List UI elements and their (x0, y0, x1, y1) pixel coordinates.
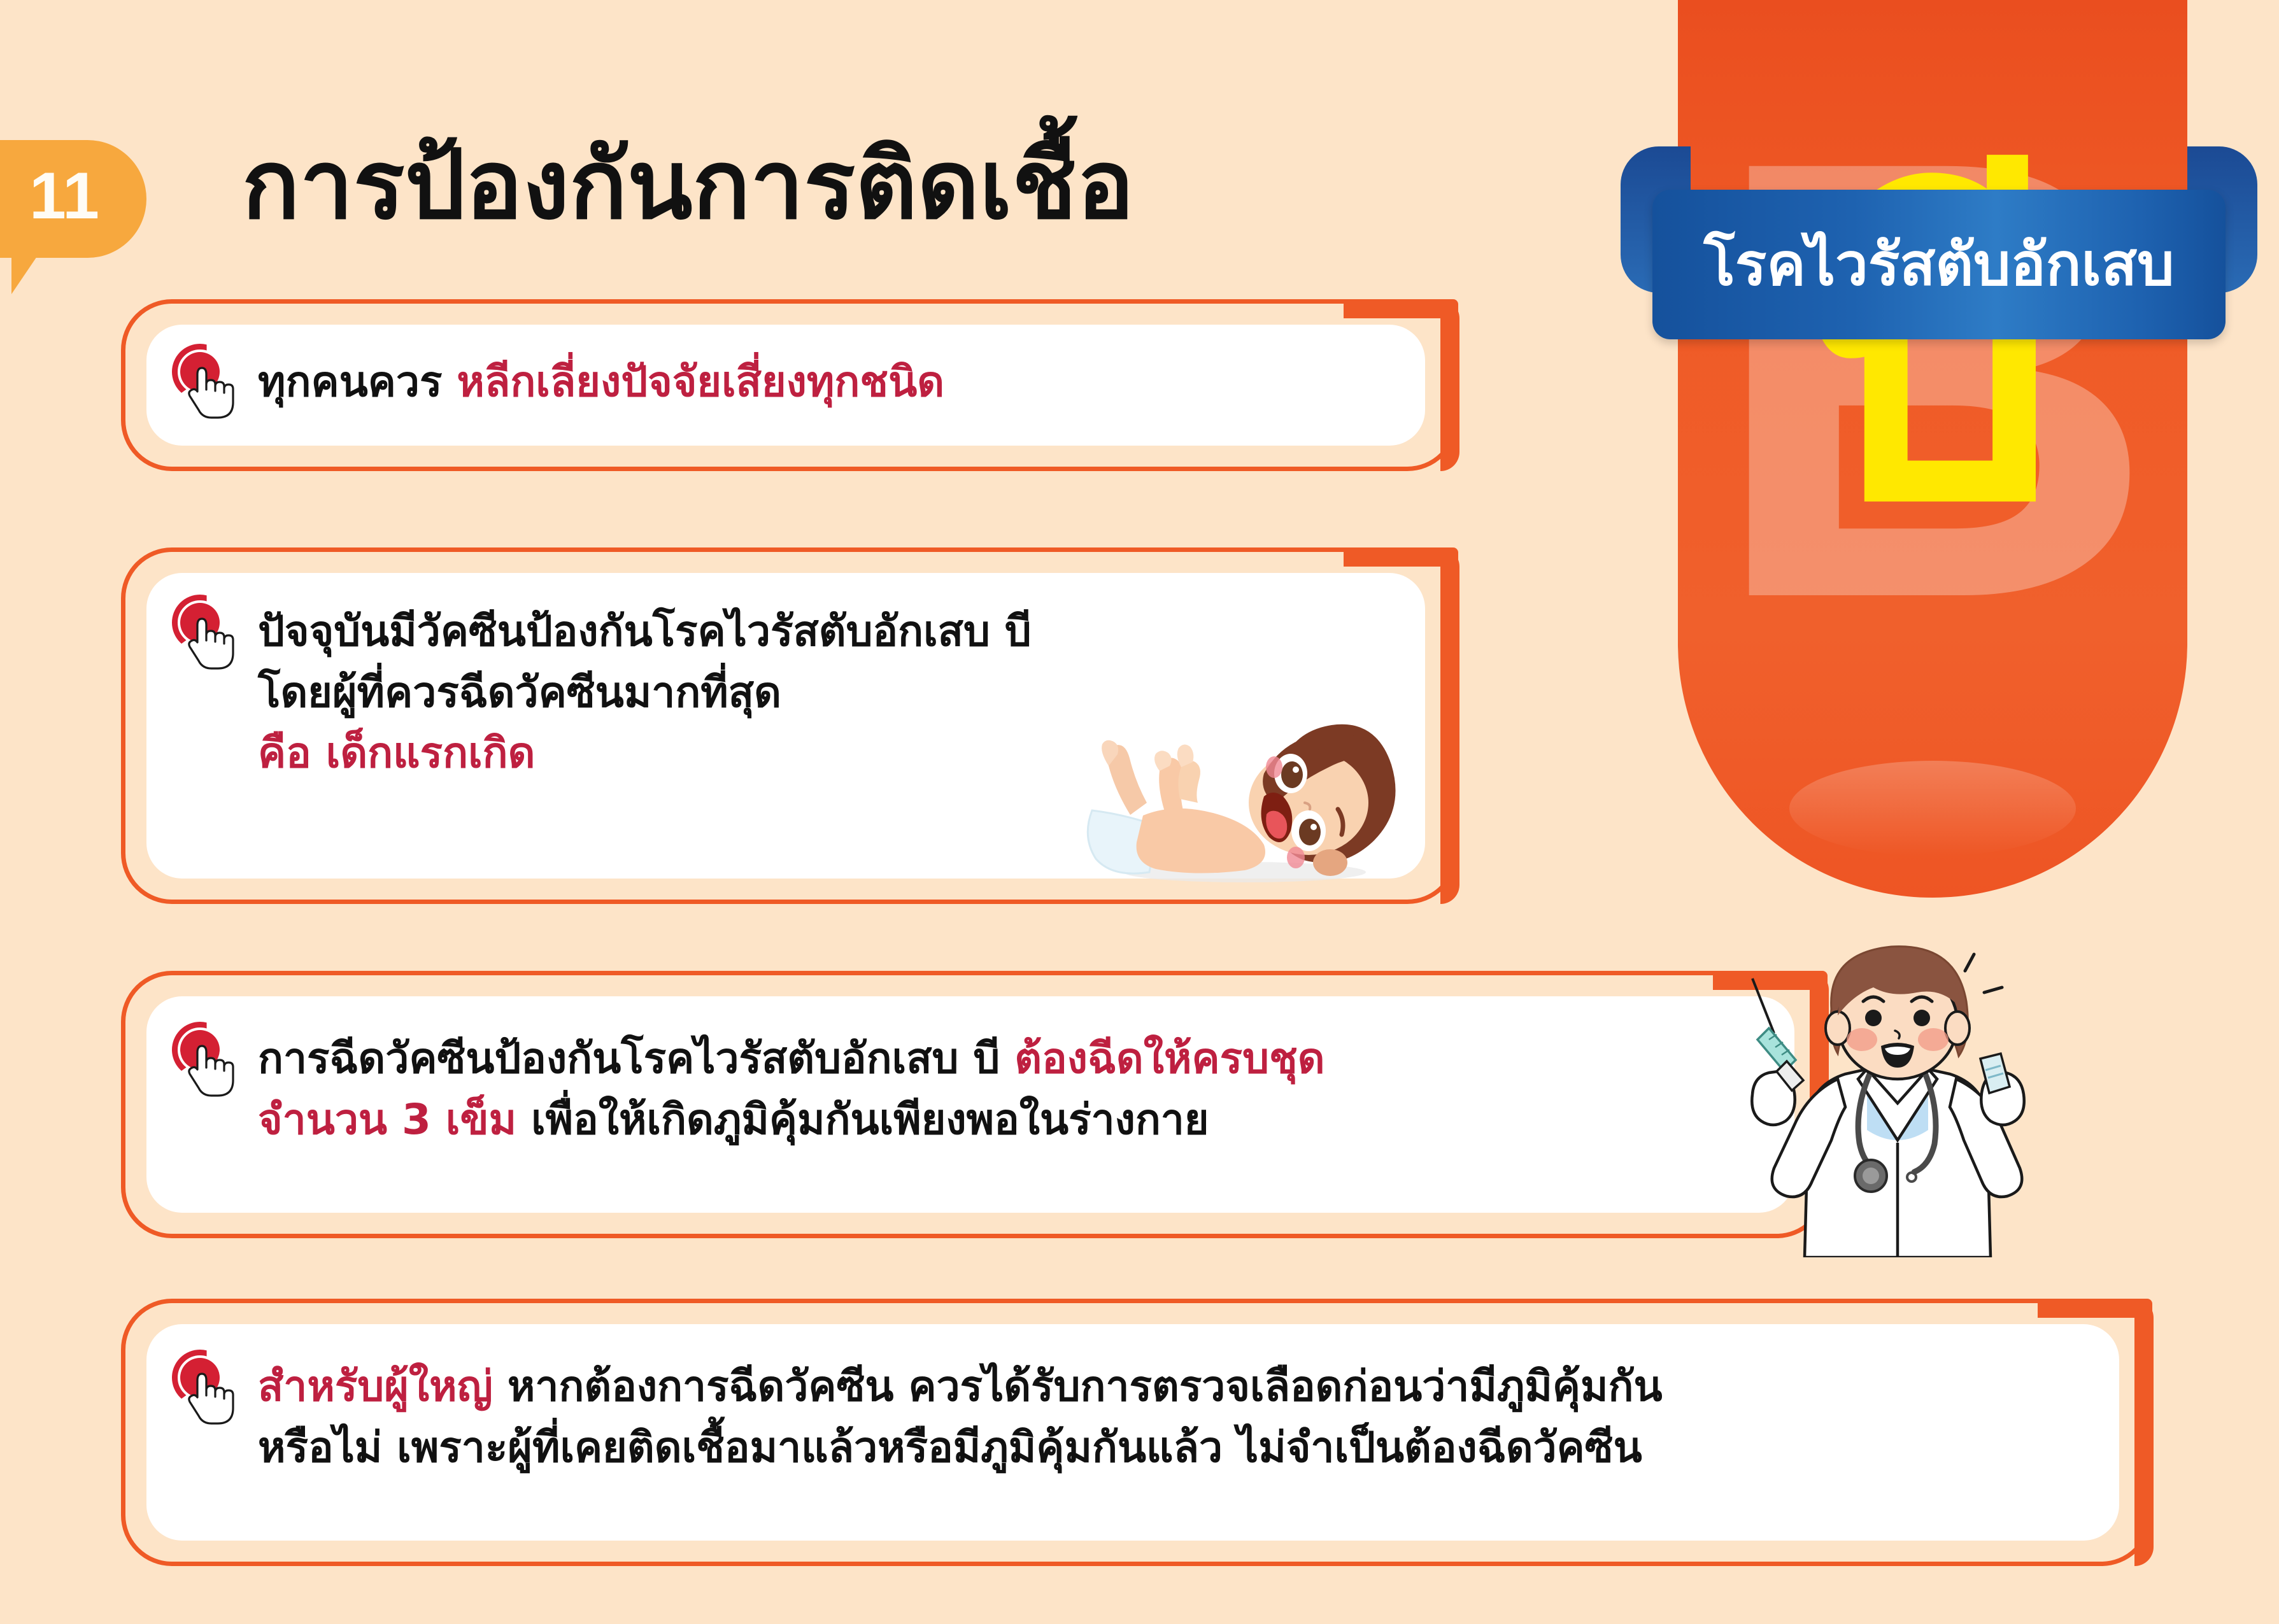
badge-bubble-tail (11, 255, 38, 294)
info-card-4: สำหรับผู้ใหญ่ หากต้องการฉีดวัคซีน ควรได้… (121, 1299, 2152, 1566)
baby-cheek-right (1287, 847, 1305, 868)
card-text-block: การฉีดวัคซีนป้องกันโรคไวรัสตับอักเสบ บี … (258, 1028, 1325, 1150)
baby-ear (1313, 849, 1347, 876)
card-text-block: ปัจจุบันมีวัคซีนป้องกันโรคไวรัสตับอักเสบ… (258, 601, 1032, 784)
baby-body (1137, 808, 1265, 873)
banner-reflection (1789, 761, 2076, 856)
syringe-needle (1752, 978, 1774, 1033)
tap-click-icon (172, 344, 242, 420)
card-4-line-2: หรือไม่ เพราะผู้ที่เคยติดเชื้อมาแล้วหรือ… (258, 1417, 1663, 1478)
baby-cheek-left (1266, 756, 1282, 778)
hand-pointer-icon (185, 616, 238, 671)
doctor-eye-left (1865, 1010, 1882, 1026)
ribbon-body: โรคไวรัสตับอักเสบ (1652, 190, 2226, 339)
hand-pointer-icon (185, 365, 238, 420)
card-2-line-3: คือ เด็กแรกเกิด (258, 723, 1032, 784)
card-1-line1-part1: ทุกคนควร (258, 357, 457, 406)
card-3-line1-part1: การฉีดวัคซีนป้องกันโรคไวรัสตับอักเสบ บี (258, 1034, 1014, 1083)
baby-eye-left-glint (1293, 766, 1299, 773)
card-1-line1-part2: หลีกเลี่ยงปัจจัยเสี่ยงทุกชนิด (457, 357, 944, 406)
card-4-line1-part2: หากต้องการฉีดวัคซีน ควรได้รับการตรวจเลือ… (508, 1362, 1663, 1411)
card-accent-bar (2134, 1299, 2154, 1566)
card-4-line1-part1: สำหรับผู้ใหญ่ (258, 1362, 508, 1411)
tap-click-icon (172, 1022, 242, 1098)
page-number-label: 11 (0, 163, 146, 229)
info-card-1: ทุกคนควร หลีกเลี่ยงปัจจัยเสี่ยงทุกชนิด (121, 299, 1458, 471)
page-title: การป้องกันการติดเชื้อ (242, 131, 1134, 241)
card-accent-notch-top (1344, 299, 1458, 318)
card-3-line2-part1: จำนวน 3 เข็ม (258, 1095, 531, 1144)
hepatitis-b-banner: B บี (1678, 0, 2187, 898)
card-text-line-1: ทุกคนควร หลีกเลี่ยงปัจจัยเสี่ยงทุกชนิด (258, 351, 944, 413)
card-3-line2-part2: เพื่อให้เกิดภูมิคุ้มกันเพียงพอในร่างกาย (531, 1095, 1209, 1144)
card-2-line-1: ปัจจุบันมีวัคซีนป้องกันโรคไวรัสตับอักเสบ… (258, 601, 1032, 662)
card-accent-notch-top (1344, 547, 1458, 567)
hand-pointer-icon (185, 1371, 238, 1426)
disease-name-ribbon: โรคไวรัสตับอักเสบ (1621, 146, 2257, 337)
crying-baby-illustration (1054, 678, 1410, 888)
card-accent-bar (1440, 547, 1459, 904)
card-3-line-2: จำนวน 3 เข็ม เพื่อให้เกิดภูมิคุ้มกันเพีย… (258, 1089, 1325, 1150)
info-card-3: การฉีดวัคซีนป้องกันโรคไวรัสตับอักเสบ บี … (121, 971, 1828, 1238)
card-4-line-1: สำหรับผู้ใหญ่ หากต้องการฉีดวัคซีน ควรได้… (258, 1356, 1663, 1417)
page-number-badge: 11 (0, 140, 146, 286)
ribbon-label: โรคไวรัสตับอักเสบ (1704, 236, 2175, 294)
tap-click-icon (172, 595, 242, 671)
hand-pointer-icon (185, 1043, 238, 1098)
baby-eye-right-glint (1310, 824, 1317, 830)
doctor-cheek-right (1918, 1028, 1949, 1051)
card-3-line1-part2: ต้องฉีดให้ครบชุด (1014, 1034, 1324, 1083)
stethoscope-diaphragm (1863, 1168, 1879, 1184)
doctor-cheek-left (1847, 1028, 1877, 1051)
card-3-line-1: การฉีดวัคซีนป้องกันโรคไวรัสตับอักเสบ บี … (258, 1028, 1325, 1089)
card-text-block: สำหรับผู้ใหญ่ หากต้องการฉีดวัคซีน ควรได้… (258, 1356, 1663, 1478)
baby-eye-left-iris (1281, 761, 1303, 788)
doctor-eye-right (1913, 1010, 1930, 1026)
card-2-line-2: โดยผู้ที่ควรฉีดวัคซีนมากที่สุด (258, 662, 1032, 723)
baby-eye-right-iris (1299, 819, 1321, 845)
card-accent-notch-top (2038, 1299, 2152, 1318)
doctor-ear-right (1945, 1012, 1970, 1045)
card-accent-bar (1440, 299, 1459, 471)
doctor-ear-left (1826, 1012, 1850, 1045)
doctor-with-syringe-illustration (1707, 926, 2089, 1257)
tap-click-icon (172, 1350, 242, 1426)
